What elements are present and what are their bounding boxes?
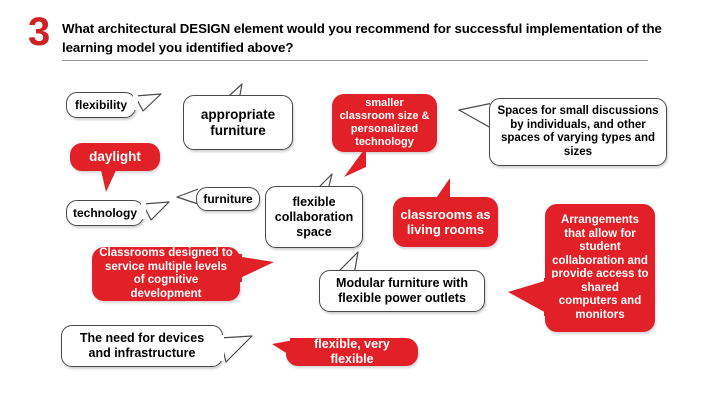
question-number: 3 bbox=[28, 12, 49, 52]
bubble-classrooms-cognitive-label: Classrooms designed to service multiple … bbox=[92, 247, 240, 301]
bubble-daylight[interactable]: daylight bbox=[70, 143, 160, 171]
tail-technology-icon bbox=[141, 200, 173, 226]
bubble-flexible-collaboration-label: flexible collaboration space bbox=[266, 195, 362, 240]
bubble-arrangements[interactable]: Arrangements that allow for student coll… bbox=[545, 204, 655, 332]
bubble-classrooms-living-rooms[interactable]: classrooms as living rooms bbox=[393, 197, 498, 247]
bubble-spaces-small-discussions[interactable]: Spaces for small discussions by individu… bbox=[489, 98, 667, 166]
bubble-technology[interactable]: technology bbox=[66, 200, 144, 226]
bubble-flexible-very-flexible-label: flexible, very flexible bbox=[286, 337, 418, 367]
bubble-spaces-small-discussions-label: Spaces for small discussions by individu… bbox=[490, 105, 666, 159]
bubble-appropriate-furniture[interactable]: appropriate furniture bbox=[183, 95, 293, 150]
bubble-flexibility[interactable]: flexibility bbox=[66, 92, 136, 118]
header-divider bbox=[62, 60, 648, 61]
bubble-need-devices-label: The need for devices and infrastructure bbox=[62, 331, 222, 361]
bubble-flexible-collaboration[interactable]: flexible collaboration space bbox=[265, 186, 363, 248]
bubble-modular-furniture[interactable]: Modular furniture with flexible power ou… bbox=[319, 270, 485, 312]
bubble-daylight-label: daylight bbox=[70, 149, 160, 165]
bubble-furniture[interactable]: furniture bbox=[196, 187, 260, 211]
bubble-classrooms-living-rooms-label: classrooms as living rooms bbox=[393, 207, 498, 237]
bubble-need-devices[interactable]: The need for devices and infrastructure bbox=[61, 325, 223, 367]
bubble-technology-label: technology bbox=[67, 206, 143, 220]
bubble-flexibility-label: flexibility bbox=[67, 98, 135, 112]
tail-need-devices-icon bbox=[218, 328, 258, 368]
bubble-classrooms-cognitive[interactable]: Classrooms designed to service multiple … bbox=[92, 247, 240, 301]
bubble-smaller-classroom-label: smaller classroom size & personalized te… bbox=[332, 97, 437, 149]
bubble-appropriate-furniture-label: appropriate furniture bbox=[184, 107, 292, 139]
question-text: What architectural DESIGN element would … bbox=[62, 19, 662, 57]
bubble-furniture-label: furniture bbox=[197, 192, 259, 206]
bubble-arrangements-label: Arrangements that allow for student coll… bbox=[545, 214, 655, 322]
slide-header: 3 What architectural DESIGN element woul… bbox=[0, 0, 710, 70]
tail-flexibility-icon bbox=[133, 92, 165, 118]
slide-canvas: 3 What architectural DESIGN element woul… bbox=[0, 0, 710, 404]
bubble-modular-furniture-label: Modular furniture with flexible power ou… bbox=[320, 276, 484, 306]
bubble-smaller-classroom[interactable]: smaller classroom size & personalized te… bbox=[332, 94, 437, 152]
bubble-flexible-very-flexible[interactable]: flexible, very flexible bbox=[286, 338, 418, 366]
